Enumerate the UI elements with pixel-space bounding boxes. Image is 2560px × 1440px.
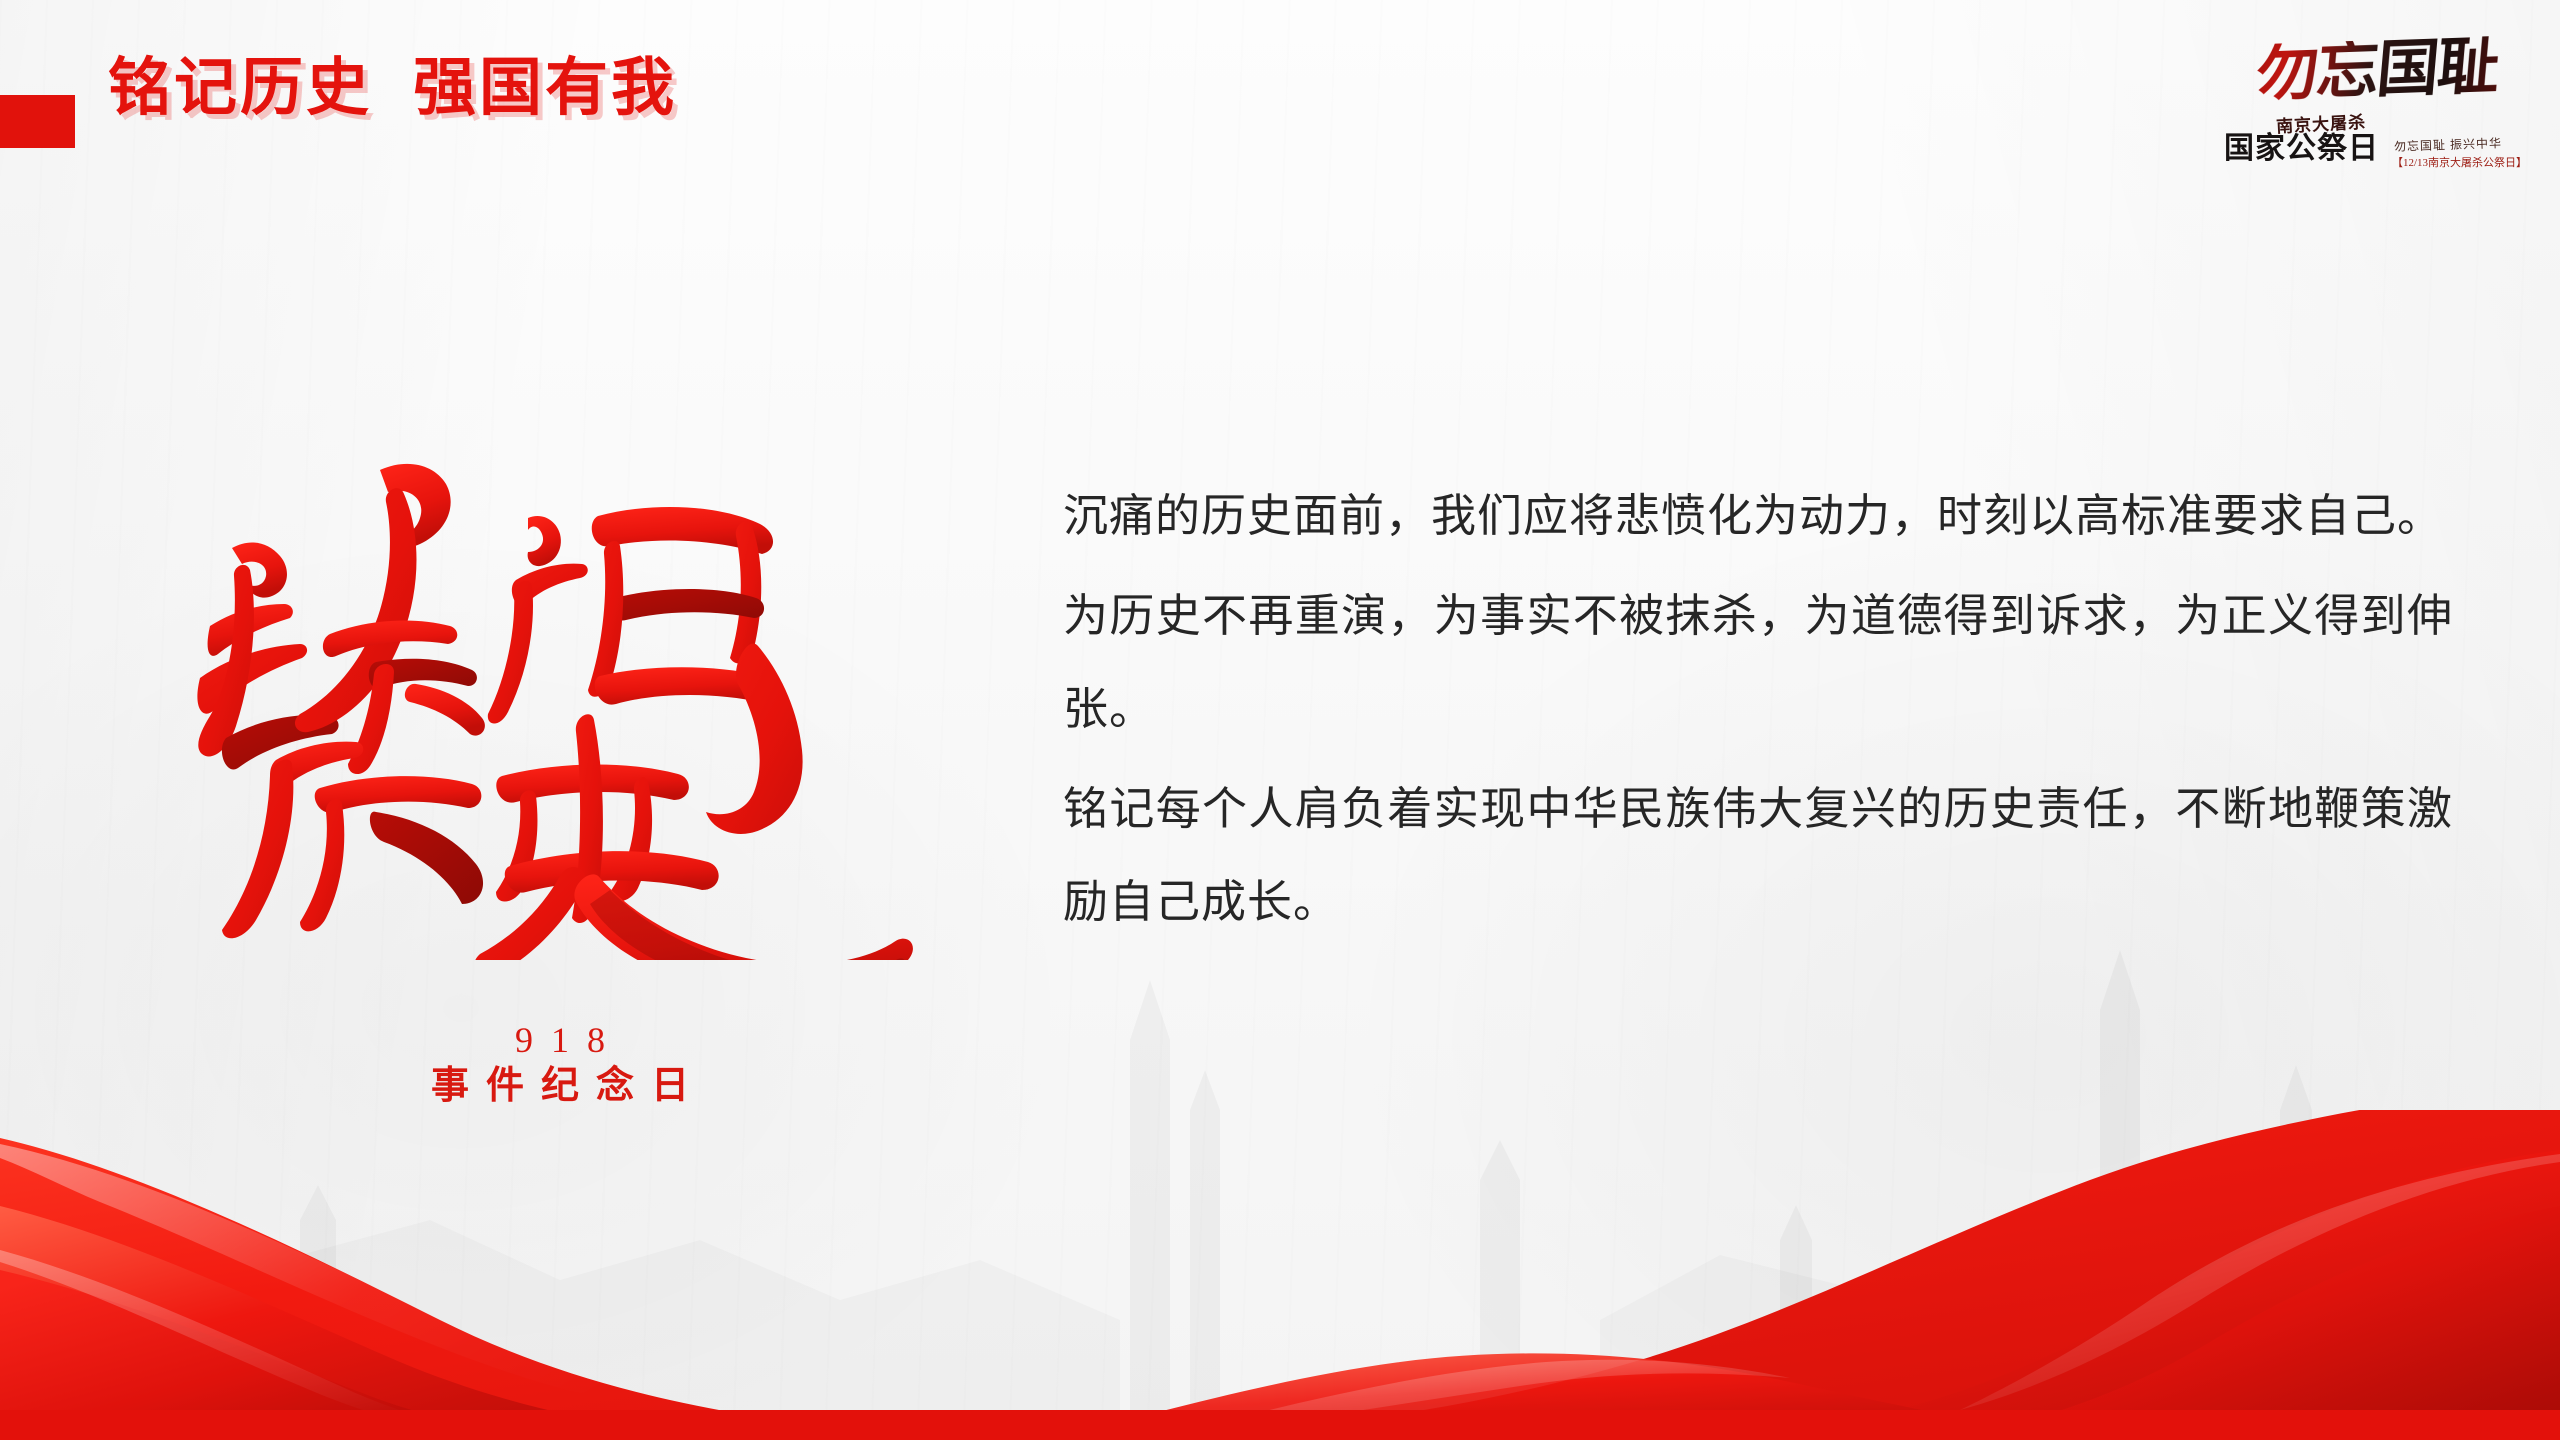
page-title: 铭记历史 强国有我	[108, 57, 677, 120]
red-silk-ribbon-decoration	[0, 1110, 2560, 1440]
artwork-caption-text: 事件纪念日	[180, 1061, 940, 1112]
calligraphy-artwork-block: 918 事件纪念日	[180, 420, 940, 1060]
stamp-second-line: 国家公祭日	[2224, 134, 2379, 164]
artwork-caption: 918 事件纪念日	[180, 1020, 940, 1113]
body-paragraph-1: 沉痛的历史面前，我们应将悲愤化为动力，时刻以高标准要求自己。	[1063, 470, 2453, 564]
stamp-note-date: 【12/13南京大屠杀公祭日】	[2392, 154, 2527, 170]
memorial-stamp-logo: 勿忘国耻 南京大屠杀 国家公祭日 勿忘国耻 振兴中华 【12/13南京大屠杀公祭…	[2222, 38, 2532, 193]
body-paragraph-3: 铭记每个人肩负着实现中华民族伟大复兴的历史责任，不断地鞭策激励自己成长。	[1063, 763, 2453, 950]
body-paragraph-2: 为历史不再重演，为事实不被抹杀，为道德得到诉求，为正义得到伸张。	[1063, 570, 2453, 757]
artwork-caption-number: 918	[180, 1020, 940, 1061]
stamp-note-slogan: 勿忘国耻 振兴中华	[2394, 134, 2503, 155]
red-square-accent-icon	[0, 95, 75, 148]
slide-canvas: 铭记历史 强国有我 勿忘国耻 南京大屠杀 国家公祭日 勿忘国耻 振兴中华 【12…	[0, 0, 2560, 1440]
body-copy: 沉痛的历史面前，我们应将悲愤化为动力，时刻以高标准要求自己。 为历史不再重演，为…	[1063, 470, 2453, 956]
calligraphy-artwork	[180, 420, 940, 960]
slide-header: 铭记历史 强国有我	[0, 0, 2560, 190]
stamp-main-calligraphy: 勿忘国耻	[2219, 35, 2536, 108]
